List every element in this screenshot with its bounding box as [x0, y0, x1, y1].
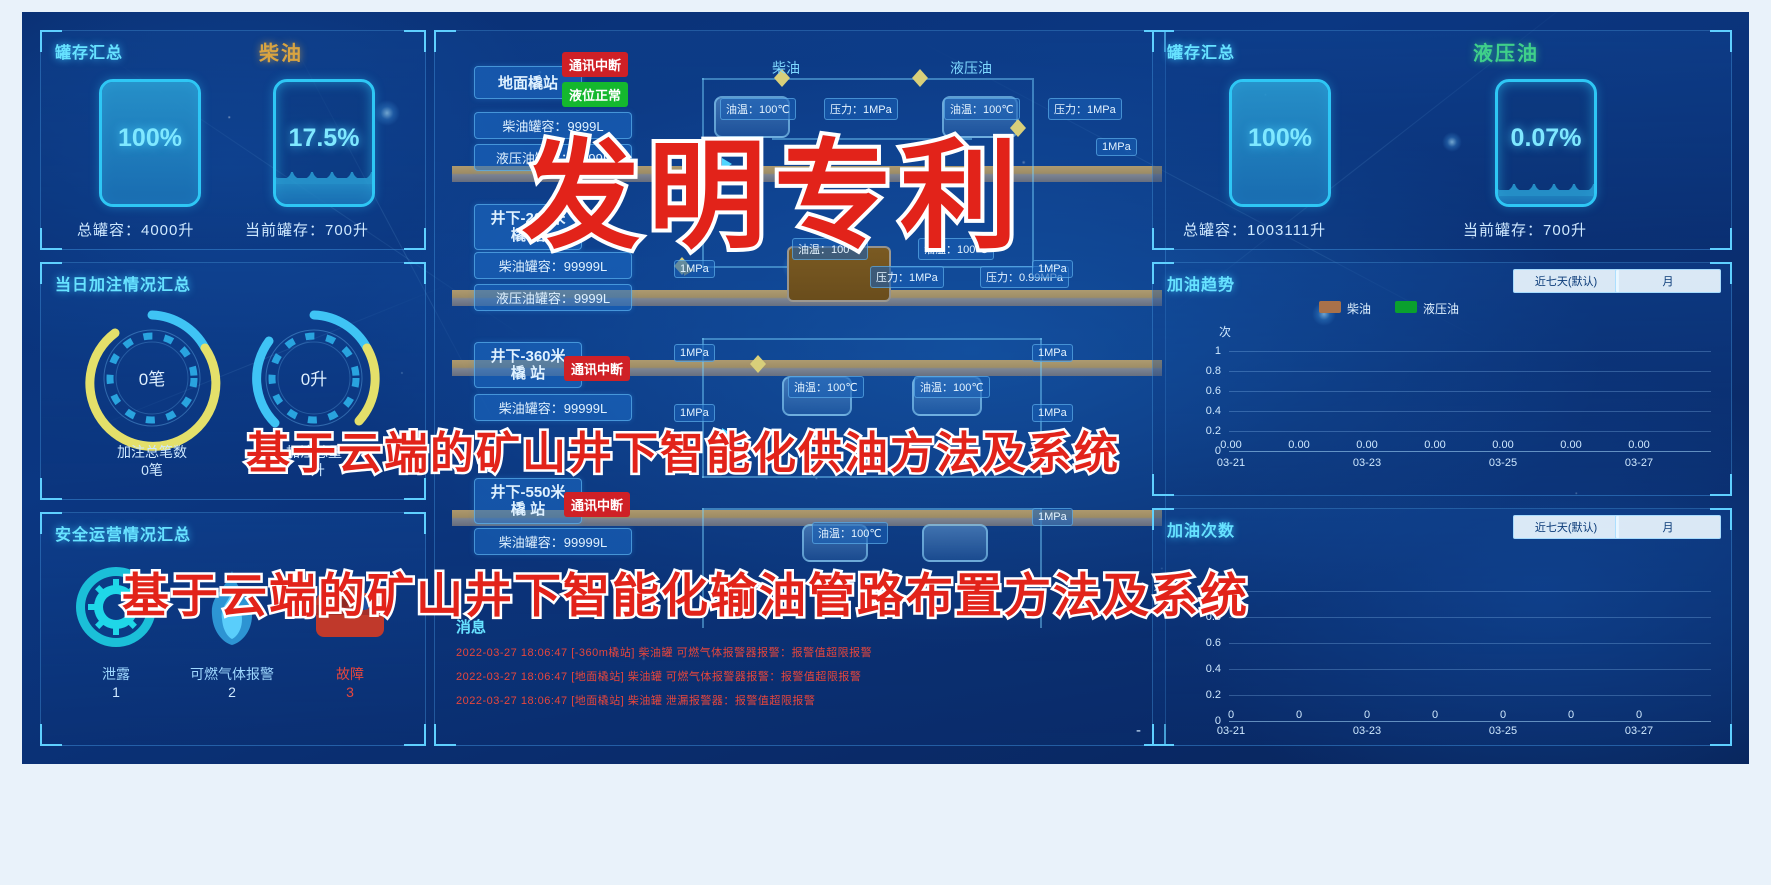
- gauge-total-capacity-hydraulic-value: 100%: [1232, 124, 1328, 153]
- point-label: 0: [1211, 709, 1251, 721]
- point-label: 0.00: [1415, 439, 1455, 451]
- dashboard-board: 罐存汇总 柴油 100% 17.5% 总罐容：4000升 当前罐存：700升 当…: [22, 12, 1749, 764]
- gridline: [1229, 695, 1711, 696]
- range-button-seven-days[interactable]: 近七天(默认): [1513, 269, 1619, 293]
- panel-refuel-count-chart: 加油次数 近七天(默认) 月 0 0.2 0.4 0.6 0.8 1 0 0 0…: [1152, 508, 1732, 746]
- x-axis-line: [1229, 451, 1711, 452]
- gridline: [1229, 371, 1711, 372]
- pressure-tag: 1MPa: [1096, 138, 1137, 156]
- y-tick: 1: [1193, 345, 1221, 357]
- gauge-total-capacity-hydraulic: 100%: [1229, 79, 1331, 207]
- range-button-seven-days-count[interactable]: 近七天(默认): [1513, 515, 1619, 539]
- message-row[interactable]: 2022-03-27 18:06:47 [地面橇站] 柴油罐 泄漏报警器：报警值…: [456, 692, 815, 708]
- panel-title-refuel-count: 加油次数: [1167, 517, 1235, 541]
- corner-decoration: [1152, 228, 1174, 250]
- gauge-total-capacity-diesel-value: 100%: [102, 124, 198, 153]
- panel-title-right-tank: 罐存汇总: [1167, 39, 1235, 63]
- gauge-refuel-count: 0笔: [77, 303, 227, 453]
- gridline: [1229, 351, 1711, 352]
- gridline: [1229, 391, 1711, 392]
- pressure-tag: 1MPa: [1032, 344, 1073, 362]
- column-header-hydraulic: 液压油: [950, 58, 992, 78]
- point-label: 0.00: [1619, 439, 1659, 451]
- panel-right-tank-summary: 罐存汇总 液压油 100% 0.07% 总罐容：1003111升 当前罐存：70…: [1152, 30, 1732, 250]
- y-axis-unit-trend: 次: [1219, 323, 1231, 340]
- gridline: [1229, 643, 1711, 644]
- panel-safety-summary: 安全运营情况汇总: [40, 512, 426, 746]
- point-label: 0.00: [1551, 439, 1591, 451]
- gauge-current-stock-diesel-value: 17.5%: [276, 124, 372, 153]
- corner-decoration: [404, 262, 426, 284]
- corner-decoration: [404, 724, 426, 746]
- safety-item-gas-alarm-label: 可燃气体报警: [177, 664, 287, 684]
- point-label: 0.00: [1279, 439, 1319, 451]
- x-tick: 03-25: [1483, 725, 1523, 737]
- gauge-current-stock-hydraulic: 0.07%: [1495, 79, 1597, 207]
- corner-decoration: [404, 228, 426, 250]
- caption-refuel-count-value: 0笔: [77, 461, 227, 479]
- y-tick: 0.6: [1193, 637, 1221, 649]
- legend-swatch-hydraulic[interactable]: [1395, 301, 1417, 313]
- point-label: 0: [1551, 709, 1591, 721]
- sensor-tag-oil-temp: 油温：100℃: [812, 522, 888, 544]
- point-label: 0.00: [1211, 439, 1251, 451]
- panel-title-daily-refuel: 当日加注情况汇总: [55, 271, 191, 295]
- corner-decoration: [1710, 724, 1732, 746]
- status-badge-comm-550m: 通讯中断: [564, 492, 630, 517]
- overlay-patent-title-1: 基于云端的矿山井下智能化供油方法及系统: [246, 417, 1120, 481]
- product-label-diesel: 柴油: [259, 37, 303, 66]
- overlay-patent-badge: 发明专利: [522, 100, 1026, 271]
- x-axis-line: [1229, 721, 1711, 722]
- y-tick: 0.8: [1193, 365, 1221, 377]
- point-label: 0: [1415, 709, 1455, 721]
- tank-wave: [1495, 184, 1597, 196]
- panel-title-refuel-trend: 加油趋势: [1167, 271, 1235, 295]
- y-tick: 0.2: [1193, 689, 1221, 701]
- total-capacity-label-hydraulic: 总罐容：1003111升: [1183, 219, 1326, 240]
- message-row[interactable]: 2022-03-27 18:06:47 [地面橇站] 柴油罐 可燃气体报警器报警…: [456, 668, 861, 684]
- panel-title-safety: 安全运营情况汇总: [55, 521, 191, 545]
- gridline: [1229, 431, 1711, 432]
- range-button-month[interactable]: 月: [1615, 269, 1721, 293]
- corner-decoration: [1710, 228, 1732, 250]
- total-capacity-label-diesel: 总罐容：4000升: [77, 219, 194, 240]
- corner-decoration: [404, 512, 426, 534]
- pipe-segment: [702, 508, 1042, 510]
- pipe-segment: [702, 78, 1032, 80]
- x-tick: 03-23: [1347, 457, 1387, 469]
- range-button-month-count[interactable]: 月: [1615, 515, 1721, 539]
- screenshot-root: 罐存汇总 柴油 100% 17.5% 总罐容：4000升 当前罐存：700升 当…: [0, 0, 1771, 885]
- x-tick: 03-25: [1483, 457, 1523, 469]
- corner-decoration: [40, 478, 62, 500]
- gauge-current-stock-hydraulic-value: 0.07%: [1498, 124, 1594, 153]
- corner-decoration: [1710, 30, 1732, 52]
- safety-item-gas-alarm-value: 2: [177, 684, 287, 700]
- safety-item-fault-label: 故障: [295, 664, 405, 684]
- x-tick: 03-23: [1347, 725, 1387, 737]
- gauge-refuel-volume-value: 0升: [239, 365, 389, 390]
- corner-decoration: [1152, 474, 1174, 496]
- status-badge-comm-360m: 通讯中断: [564, 356, 630, 381]
- gridline: [1229, 591, 1711, 592]
- pipe-segment: [1032, 78, 1034, 268]
- product-label-hydraulic: 液压油: [1473, 37, 1539, 66]
- gridline: [1229, 669, 1711, 670]
- corner-decoration: [404, 478, 426, 500]
- sensor-tag-oil-temp: 油温：100℃: [914, 376, 990, 398]
- pressure-tag: 1MPa: [1032, 260, 1073, 278]
- panel-title-left-tank: 罐存汇总: [55, 39, 123, 63]
- column-header-diesel: 柴油: [772, 58, 800, 78]
- point-label: 0.00: [1347, 439, 1387, 451]
- legend-label-hydraulic: 液压油: [1423, 300, 1459, 317]
- panel-messages: 消息 2022-03-27 18:06:47 [-360m橇站] 柴油罐 可燃气…: [452, 612, 1162, 752]
- gauge-current-stock-diesel: 17.5%: [273, 79, 375, 207]
- gauge-total-capacity-diesel: 100%: [99, 79, 201, 207]
- overlay-patent-title-2: 基于云端的矿山井下智能化输油管路布置方法及系统: [122, 557, 1249, 626]
- caption-refuel-count-title: 加注总笔数: [77, 443, 227, 461]
- point-label: 0: [1279, 709, 1319, 721]
- tank-fill: [276, 178, 372, 204]
- x-tick: 03-27: [1619, 725, 1659, 737]
- gridline: [1229, 617, 1711, 618]
- message-row[interactable]: 2022-03-27 18:06:47 [-360m橇站] 柴油罐 可燃气体报警…: [456, 644, 872, 660]
- gridline: [1229, 411, 1711, 412]
- capacity-hydraulic-200m: 液压油罐容：9999L: [474, 284, 632, 311]
- x-tick: 03-27: [1619, 457, 1659, 469]
- point-label: 0: [1619, 709, 1659, 721]
- pipe-segment: [702, 338, 1042, 340]
- current-stock-label-diesel: 当前罐存：700升: [245, 219, 369, 240]
- safety-item-leak-value: 1: [61, 684, 171, 700]
- status-badge-comm-surface: 通讯中断: [562, 52, 628, 77]
- legend-swatch-diesel[interactable]: [1319, 301, 1341, 313]
- safety-item-fault-value: 3: [295, 684, 405, 700]
- sensor-tag-oil-temp: 油温：100℃: [788, 376, 864, 398]
- x-tick: 03-21: [1211, 725, 1251, 737]
- y-tick: 0.4: [1193, 405, 1221, 417]
- sensor-tag-pressure: 压力：1MPa: [1048, 98, 1122, 120]
- panel-left-tank-summary: 罐存汇总 柴油 100% 17.5% 总罐容：4000升 当前罐存：700升: [40, 30, 426, 250]
- x-tick: 03-21: [1211, 457, 1251, 469]
- tank-wave: [273, 172, 375, 184]
- pressure-tag: 1MPa: [674, 344, 715, 362]
- tank-fill: [1498, 190, 1594, 204]
- legend-label-diesel: 柴油: [1347, 300, 1371, 317]
- caption-refuel-count: 加注总笔数 0笔: [77, 443, 227, 479]
- corner-decoration: [40, 724, 62, 746]
- gauge-refuel-count-value: 0笔: [77, 365, 227, 390]
- y-tick: 0.2: [1193, 425, 1221, 437]
- y-tick: 0.6: [1193, 385, 1221, 397]
- corner-decoration: [404, 30, 426, 52]
- point-label: 0.00: [1483, 439, 1523, 451]
- capacity-diesel-550m: 柴油罐容：99999L: [474, 528, 632, 555]
- corner-decoration: [1710, 474, 1732, 496]
- point-label: 0: [1483, 709, 1523, 721]
- y-tick: 0.4: [1193, 663, 1221, 675]
- corner-decoration: [40, 228, 62, 250]
- pressure-tag: 1MPa: [1032, 508, 1073, 526]
- point-label: 0: [1347, 709, 1387, 721]
- current-stock-label-hydraulic: 当前罐存：700升: [1463, 219, 1587, 240]
- corner-decoration: [1152, 724, 1174, 746]
- safety-item-leak-label: 泄露: [61, 664, 171, 684]
- panel-refuel-trend-chart: 加油趋势 近七天(默认) 月 柴油 液压油 次 0 0.2 0.4 0.6 0.…: [1152, 262, 1732, 496]
